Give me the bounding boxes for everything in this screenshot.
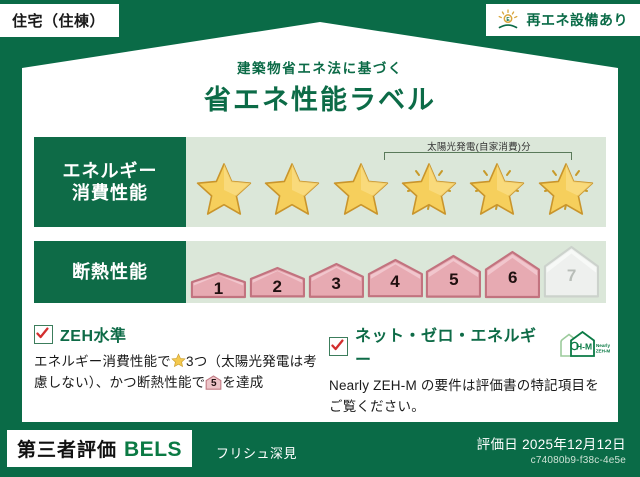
- insulation-level-filled: 4: [367, 258, 424, 299]
- zeh-m-logo-icon: H-M Nearly ZEH-M: [558, 329, 612, 364]
- check-icon: [329, 337, 348, 356]
- star-solar: [466, 157, 528, 215]
- zeh-heading: ZEH水準: [34, 322, 317, 346]
- insulation-level-value: 5: [449, 262, 458, 290]
- star-solar: [398, 157, 460, 215]
- insulation-level-value: 1: [214, 271, 223, 299]
- energy-performance-label-box: エネルギー 消費性能: [34, 137, 186, 227]
- evaluation-uid: c74080b9-f38c-4e5e: [477, 455, 626, 466]
- insulation-level-empty: 7: [543, 245, 600, 298]
- star-icon: [171, 353, 186, 368]
- zeh-description: エネルギー消費性能で3つ（太陽光発電は考慮しない）、かつ断熱性能で5を達成: [34, 352, 317, 393]
- zehm-caption-2: ZEH-M: [596, 348, 611, 353]
- netzero-criteria-column: ネット・ゼロ・エネルギー H-M Nearly ZEH-M Nearly ZEH…: [329, 322, 612, 417]
- star-rating: [186, 157, 606, 215]
- property-name: フリシュ深見: [216, 443, 297, 462]
- energy-stars-panel: 太陽光発電(自家消費)分: [186, 137, 606, 227]
- insulation-level-value: 3: [331, 266, 340, 294]
- insulation-level-filled: 3: [308, 262, 365, 298]
- energy-label-line1: エネルギー: [63, 160, 158, 183]
- energy-label-line2: 消費性能: [72, 182, 148, 205]
- bels-logo-text: BELS: [124, 438, 182, 462]
- renewable-equipment-badge: E 再エネ設備あり: [486, 4, 640, 36]
- insulation-performance-row: 断熱性能 1 2 3 4 5 6: [34, 241, 606, 303]
- insulation-label: 断熱性能: [72, 261, 148, 284]
- renewable-badge-text: 再エネ設備あり: [527, 10, 629, 30]
- third-party-evaluation-label: 第三者評価: [17, 435, 117, 462]
- insulation-level-value: 7: [567, 258, 576, 286]
- svg-text:H-M: H-M: [576, 341, 592, 351]
- zeh-title: ZEH水準: [60, 322, 127, 346]
- page-title: 省エネ性能ラベル: [0, 78, 640, 117]
- energy-performance-label: 住宅（住棟） E 再エネ設備あり 建築物省エネ法に基づく 省エネ性能ラベル: [0, 0, 640, 477]
- insulation-level-value: 4: [390, 264, 399, 292]
- criteria-columns: ZEH水準 エネルギー消費性能で3つ（太陽光発電は考慮しない）、かつ断熱性能で5…: [34, 322, 612, 417]
- netzero-heading: ネット・ゼロ・エネルギー H-M Nearly ZEH-M: [329, 322, 612, 370]
- insulation-level-value: 2: [273, 269, 282, 297]
- zeh-criteria-column: ZEH水準 エネルギー消費性能で3つ（太陽光発電は考慮しない）、かつ断熱性能で5…: [34, 322, 317, 417]
- star-filled: [330, 157, 392, 215]
- bels-badge: 第三者評価 BELS: [7, 430, 192, 467]
- building-type-badge: 住宅（住棟）: [0, 4, 119, 37]
- zeh-text-pre: エネルギー消費性能で: [34, 354, 171, 369]
- solar-generation-note: 太陽光発電(自家消費)分: [384, 139, 574, 153]
- energy-performance-row: エネルギー 消費性能 太陽光発電(自家消費)分: [34, 137, 606, 227]
- evaluation-date: 評価日 2025年12月12日: [477, 433, 626, 453]
- building-type-text: 住宅（住棟）: [12, 13, 105, 30]
- zeh-text-post: を達成: [222, 375, 263, 390]
- solar-bracket: [384, 152, 572, 160]
- check-icon: [34, 325, 53, 344]
- sun-icon: E: [496, 9, 520, 31]
- insulation-level-filled: 1: [190, 271, 247, 299]
- evaluation-meta: 評価日 2025年12月12日 c74080b9-f38c-4e5e: [477, 433, 626, 466]
- insulation-grade-inline-icon: 5: [205, 375, 222, 390]
- insulation-level-filled: 5: [425, 254, 482, 299]
- netzero-title: ネット・ゼロ・エネルギー: [355, 322, 548, 370]
- insulation-label-box: 断熱性能: [34, 241, 186, 303]
- insulation-level-value: 6: [508, 260, 517, 288]
- star-solar: [535, 157, 597, 215]
- insulation-grade-inline-value: 5: [205, 376, 222, 391]
- insulation-level-scale: 1 2 3 4 5 6 7: [186, 245, 606, 298]
- insulation-level-filled: 6: [484, 250, 541, 299]
- star-filled: [193, 157, 255, 215]
- label-subtitle: 建築物省エネ法に基づく: [0, 57, 640, 77]
- netzero-description: Nearly ZEH-M の要件は評価書の特記項目をご覧ください。: [329, 376, 612, 417]
- star-filled: [261, 157, 323, 215]
- insulation-level-filled: 2: [249, 266, 306, 298]
- insulation-levels-panel: 1 2 3 4 5 6 7: [186, 241, 606, 303]
- zehm-caption-1: Nearly: [596, 343, 610, 348]
